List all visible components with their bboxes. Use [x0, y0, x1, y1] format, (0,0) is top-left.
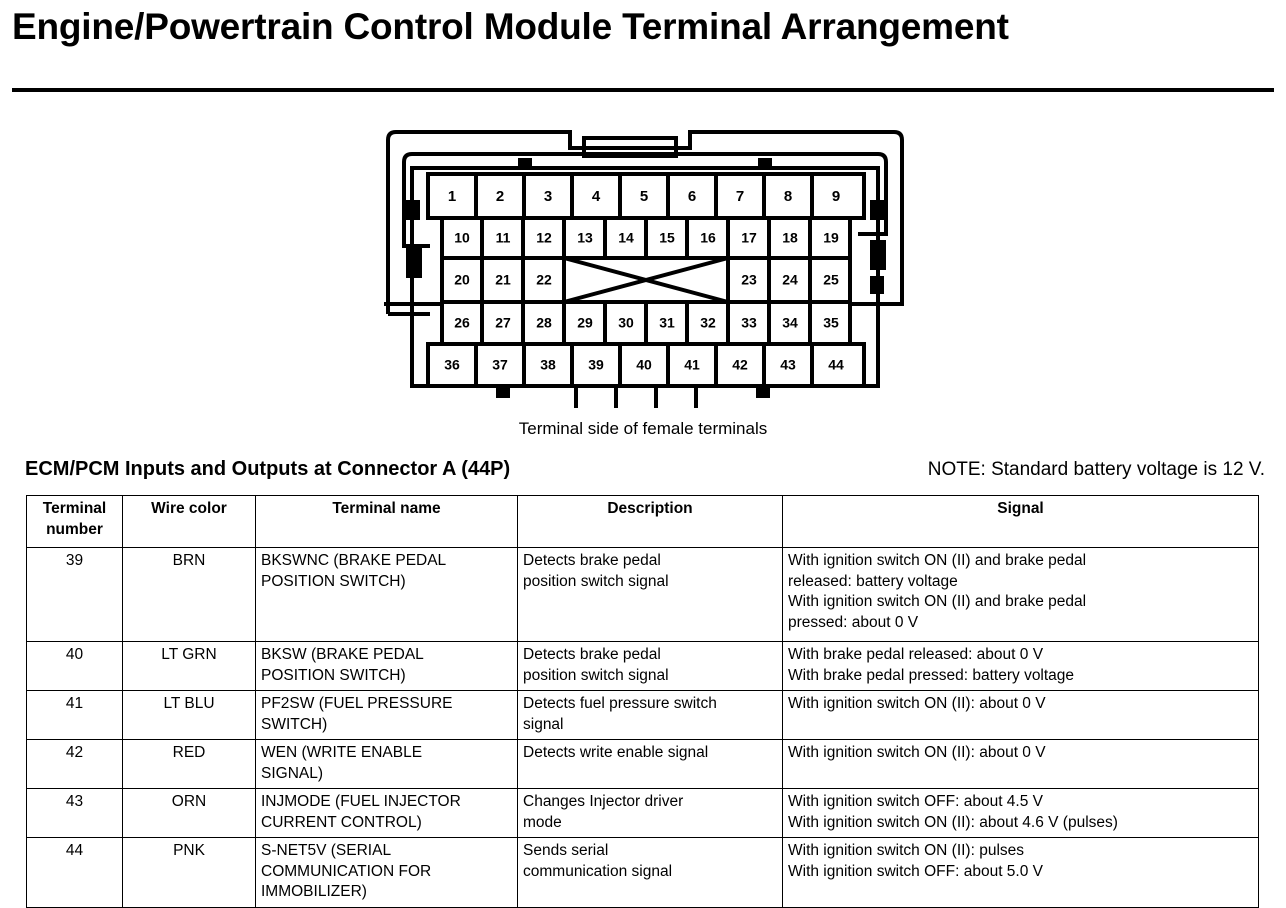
top-key-tab-left: [518, 158, 532, 170]
connector-svg: 1 2 3 4 5 6 7 8 9 10 11 12 13 14: [370, 118, 920, 408]
pin-11: 11: [496, 230, 511, 246]
table-row: 40 LT GRN BKSW (BRAKE PEDAL POSITION SWI…: [27, 642, 1259, 691]
pin-44: 44: [828, 357, 844, 373]
terminal-io-table: Terminal number Wire color Terminal name…: [26, 495, 1259, 908]
pin-4: 4: [592, 188, 601, 205]
pin-10: 10: [454, 230, 470, 246]
pin-18: 18: [782, 230, 798, 246]
cell-description: Sends serial communication signal: [518, 838, 783, 908]
cell-signal: With ignition switch ON (II): about 0 V: [783, 740, 1259, 789]
pin-row-2: 10 11 12 13 14 15 16 17 18 19: [442, 218, 850, 258]
cell-wire-color: BRN: [123, 548, 256, 642]
right-lock-tab-mid: [870, 240, 886, 270]
pin-row-5: 36 37 38 39 40 41 42 43 44: [428, 344, 864, 386]
left-lock-tab-lower: [406, 244, 422, 278]
pin-34: 34: [782, 315, 798, 331]
pin-6: 6: [688, 188, 696, 205]
col-header-wire-color: Wire color: [123, 496, 256, 548]
cell-terminal-number: 40: [27, 642, 123, 691]
cell-terminal-name: INJMODE (FUEL INJECTOR CURRENT CONTROL): [256, 789, 518, 838]
pin-39: 39: [588, 357, 604, 373]
pin-35: 35: [823, 315, 839, 331]
cell-terminal-number: 41: [27, 691, 123, 740]
cell-terminal-name: BKSW (BRAKE PEDAL POSITION SWITCH): [256, 642, 518, 691]
pin-33: 33: [741, 315, 757, 331]
cell-description: Detects write enable signal: [518, 740, 783, 789]
col-header-signal: Signal: [783, 496, 1259, 548]
pin-19: 19: [823, 230, 839, 246]
cell-terminal-name: BKSWNC (BRAKE PEDAL POSITION SWITCH): [256, 548, 518, 642]
pin-42: 42: [732, 357, 748, 373]
table-row: 44 PNK S-NET5V (SERIAL COMMUNICATION FOR…: [27, 838, 1259, 908]
bottom-latch-block: [576, 386, 696, 408]
pin-3: 3: [544, 188, 552, 205]
pin-26: 26: [454, 315, 470, 331]
cell-wire-color: ORN: [123, 789, 256, 838]
pin-2: 2: [496, 188, 504, 205]
pin-36: 36: [444, 357, 460, 373]
pin-14: 14: [618, 230, 634, 246]
pin-32: 32: [700, 315, 716, 331]
pin-30: 30: [618, 315, 634, 331]
cell-terminal-name: S-NET5V (SERIAL COMMUNICATION FOR IMMOBI…: [256, 838, 518, 908]
pin-1: 1: [448, 188, 456, 205]
title-divider: [12, 88, 1274, 92]
cell-wire-color: PNK: [123, 838, 256, 908]
cell-signal: With ignition switch OFF: about 4.5 V Wi…: [783, 789, 1259, 838]
pin-17: 17: [741, 230, 757, 246]
pin-5: 5: [640, 188, 648, 205]
col-header-description: Description: [518, 496, 783, 548]
pin-15: 15: [659, 230, 675, 246]
table-row: 41 LT BLU PF2SW (FUEL PRESSURE SWITCH) D…: [27, 691, 1259, 740]
pin-27: 27: [495, 315, 511, 331]
table-body: 39 BRN BKSWNC (BRAKE PEDAL POSITION SWIT…: [27, 548, 1259, 908]
pin-40: 40: [636, 357, 652, 373]
cell-wire-color: LT GRN: [123, 642, 256, 691]
pin-8: 8: [784, 188, 792, 205]
pin-21: 21: [495, 272, 511, 288]
cell-terminal-number: 42: [27, 740, 123, 789]
table-row: 43 ORN INJMODE (FUEL INJECTOR CURRENT CO…: [27, 789, 1259, 838]
pin-29: 29: [577, 315, 593, 331]
pin-41: 41: [684, 357, 700, 373]
pin-row-4: 26 27 28 29 30 31 32 33 34 35: [442, 302, 850, 344]
table-header: Terminal number Wire color Terminal name…: [27, 496, 1259, 548]
pin-22: 22: [536, 272, 552, 288]
connector-diagram: 1 2 3 4 5 6 7 8 9 10 11 12 13 14: [370, 118, 920, 408]
diagram-caption: Terminal side of female terminals: [0, 418, 1286, 440]
battery-voltage-note: NOTE: Standard battery voltage is 12 V.: [928, 459, 1265, 481]
pin-24: 24: [782, 272, 798, 288]
cell-signal: With ignition switch ON (II) and brake p…: [783, 548, 1259, 642]
cell-description: Detects fuel pressure switch signal: [518, 691, 783, 740]
pin-31: 31: [659, 315, 675, 331]
table-header-row: Terminal number Wire color Terminal name…: [27, 496, 1259, 548]
cell-terminal-number: 44: [27, 838, 123, 908]
pin-28: 28: [536, 315, 552, 331]
pin-row-1: 1 2 3 4 5 6 7 8 9: [428, 174, 864, 218]
pin-9: 9: [832, 188, 840, 205]
cell-signal: With ignition switch ON (II): about 0 V: [783, 691, 1259, 740]
section-header: ECM/PCM Inputs and Outputs at Connector …: [25, 458, 1265, 486]
page-title: Engine/Powertrain Control Module Termina…: [12, 2, 1274, 52]
right-lock-tab-lower: [870, 276, 884, 294]
table-row: 42 RED WEN (WRITE ENABLE SIGNAL) Detects…: [27, 740, 1259, 789]
section-title: ECM/PCM Inputs and Outputs at Connector …: [25, 458, 510, 481]
col-header-terminal-name: Terminal name: [256, 496, 518, 548]
cell-terminal-number: 39: [27, 548, 123, 642]
table-row: 39 BRN BKSWNC (BRAKE PEDAL POSITION SWIT…: [27, 548, 1259, 642]
pin-37: 37: [492, 357, 508, 373]
cell-terminal-name: PF2SW (FUEL PRESSURE SWITCH): [256, 691, 518, 740]
cell-wire-color: RED: [123, 740, 256, 789]
pin-12: 12: [536, 230, 552, 246]
right-lock-tab-upper: [870, 200, 884, 220]
cell-terminal-name: WEN (WRITE ENABLE SIGNAL): [256, 740, 518, 789]
cell-wire-color: LT BLU: [123, 691, 256, 740]
cell-description: Detects brake pedal position switch sign…: [518, 642, 783, 691]
pin-25: 25: [823, 272, 839, 288]
pin-23: 23: [741, 272, 757, 288]
cell-description: Detects brake pedal position switch sign…: [518, 548, 783, 642]
pin-7: 7: [736, 188, 744, 205]
pin-16: 16: [700, 230, 716, 246]
cell-terminal-number: 43: [27, 789, 123, 838]
left-lock-tab-upper: [406, 200, 420, 220]
pin-13: 13: [577, 230, 593, 246]
cell-signal: With ignition switch ON (II): pulses Wit…: [783, 838, 1259, 908]
pin-38: 38: [540, 357, 556, 373]
pin-43: 43: [780, 357, 796, 373]
cell-description: Changes Injector driver mode: [518, 789, 783, 838]
col-header-terminal-number: Terminal number: [27, 496, 123, 548]
top-key-tab-right: [758, 158, 772, 170]
cell-signal: With brake pedal released: about 0 V Wit…: [783, 642, 1259, 691]
pin-row-3: 20 21 22 23 24 25: [442, 258, 850, 302]
pin-20: 20: [454, 272, 470, 288]
